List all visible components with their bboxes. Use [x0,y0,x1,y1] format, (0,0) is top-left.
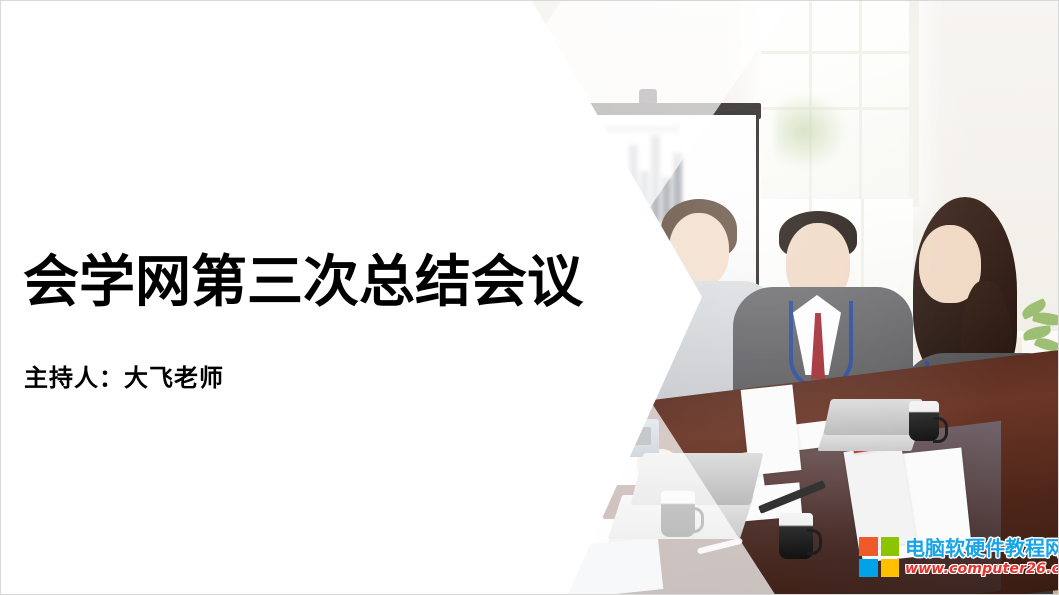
logo-tile-top-left [859,537,878,556]
page-title: 会学网第三次总结会议 [23,253,583,313]
watermark-url: www.computer26.com [905,562,1059,576]
presentation-slide: 会学网第三次总结会议 主持人：大飞老师 电脑软硬件教程网 www.compute… [0,0,1059,595]
laptop-screen [823,399,923,435]
coffee-mug [909,401,939,441]
window-top-right [761,1,911,200]
coffee-mug [661,491,695,537]
logo-tile-bottom-left [859,559,878,578]
presenter-subtitle: 主持人：大飞老师 [24,358,224,393]
watermark: 电脑软硬件教程网 www.computer26.com [859,537,1059,577]
laptop-screen [631,453,764,505]
window-frame [909,1,919,207]
windows-logo-icon [859,537,899,577]
logo-tile-top-right [881,537,900,556]
logo-tile-bottom-right [881,559,900,578]
watermark-site-name: 电脑软硬件教程网 [905,538,1059,558]
meeting-photo [521,1,1059,595]
watermark-text: 电脑软硬件教程网 www.computer26.com [905,538,1059,576]
coffee-mug [779,513,813,559]
desk-phone [599,419,659,457]
